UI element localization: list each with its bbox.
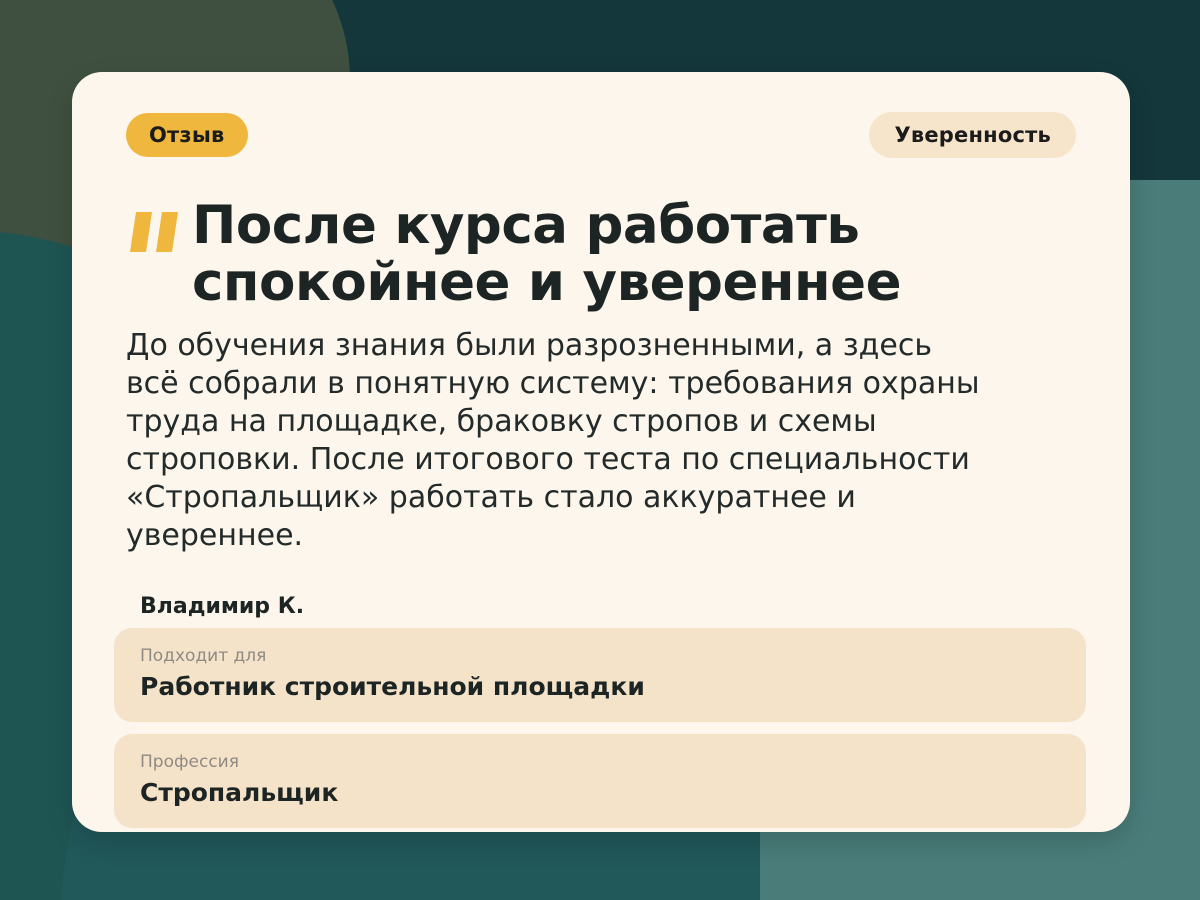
badge-topic: Уверенность bbox=[869, 112, 1076, 158]
page-title: После курса работать спокойнее и уверенн… bbox=[192, 198, 952, 311]
meta-label: Профессия bbox=[140, 752, 1060, 772]
headline-row: После курса работать спокойнее и уверенн… bbox=[126, 198, 1076, 311]
review-author-name: Владимир К. bbox=[140, 594, 304, 619]
review-body-text: До обучения знания были разрозненными, а… bbox=[126, 327, 986, 556]
meta-card-profession: Профессия Стропальщик bbox=[114, 734, 1086, 828]
meta-card-audience: Подходит для Работник строительной площа… bbox=[114, 628, 1086, 722]
meta-label: Подходит для bbox=[140, 646, 1060, 666]
badge-row: Отзыв Уверенность bbox=[72, 112, 1130, 158]
meta-value: Стропальщик bbox=[140, 778, 1060, 808]
quote-mark-icon bbox=[126, 208, 184, 256]
meta-value: Работник строительной площадки bbox=[140, 672, 1060, 702]
review-card: Отзыв Уверенность После курса работать с… bbox=[72, 72, 1130, 832]
badge-review-type: Отзыв bbox=[126, 113, 248, 157]
page-background: Отзыв Уверенность После курса работать с… bbox=[0, 0, 1200, 900]
